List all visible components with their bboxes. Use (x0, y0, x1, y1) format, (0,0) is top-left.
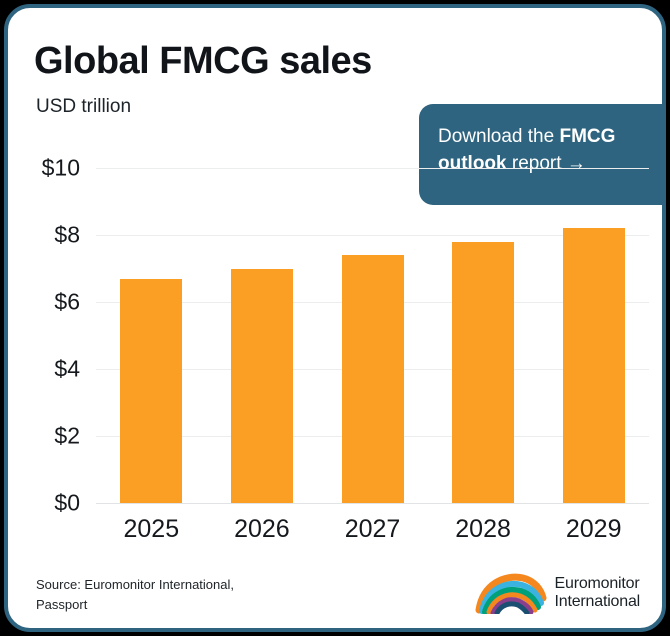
y-axis-tick-label: $8 (54, 222, 80, 249)
chart-card: Global FMCG sales USD trillion Download … (4, 4, 666, 632)
y-axis-tick-label: $6 (54, 289, 80, 316)
gridline: $10 (96, 168, 649, 169)
y-axis-tick-label: $10 (42, 155, 80, 182)
y-axis-tick-label: $0 (54, 490, 80, 517)
bar-2025[interactable] (120, 279, 182, 503)
y-axis-tick-label: $2 (54, 423, 80, 450)
bar-2027[interactable] (342, 255, 404, 503)
bar-chart-plot-area: $0$2$4$6$8$1020252026202720282029 (96, 168, 649, 503)
x-axis-tick-label: 2025 (91, 515, 211, 544)
x-axis-tick-label: 2026 (202, 515, 322, 544)
chart-subtitle: USD trillion (36, 96, 131, 118)
logo-wordmark: Euromonitor International (555, 575, 640, 612)
cta-text-before: Download the (438, 126, 559, 147)
euromonitor-international-logo: Euromonitor International (475, 568, 640, 618)
logo-line-1: Euromonitor (555, 575, 640, 593)
y-axis-tick-label: $4 (54, 356, 80, 383)
gridline: $0 (96, 503, 649, 504)
bar-2029[interactable] (563, 228, 625, 503)
page-title: Global FMCG sales (34, 40, 372, 83)
x-axis-tick-label: 2029 (534, 515, 654, 544)
logo-arcs-icon (475, 572, 547, 614)
source-note: Source: Euromonitor International, Passp… (36, 575, 276, 614)
x-axis-tick-label: 2028 (423, 515, 543, 544)
bar-2026[interactable] (231, 269, 293, 504)
x-axis-tick-label: 2027 (313, 515, 433, 544)
logo-line-2: International (555, 593, 640, 611)
bar-2028[interactable] (452, 242, 514, 503)
